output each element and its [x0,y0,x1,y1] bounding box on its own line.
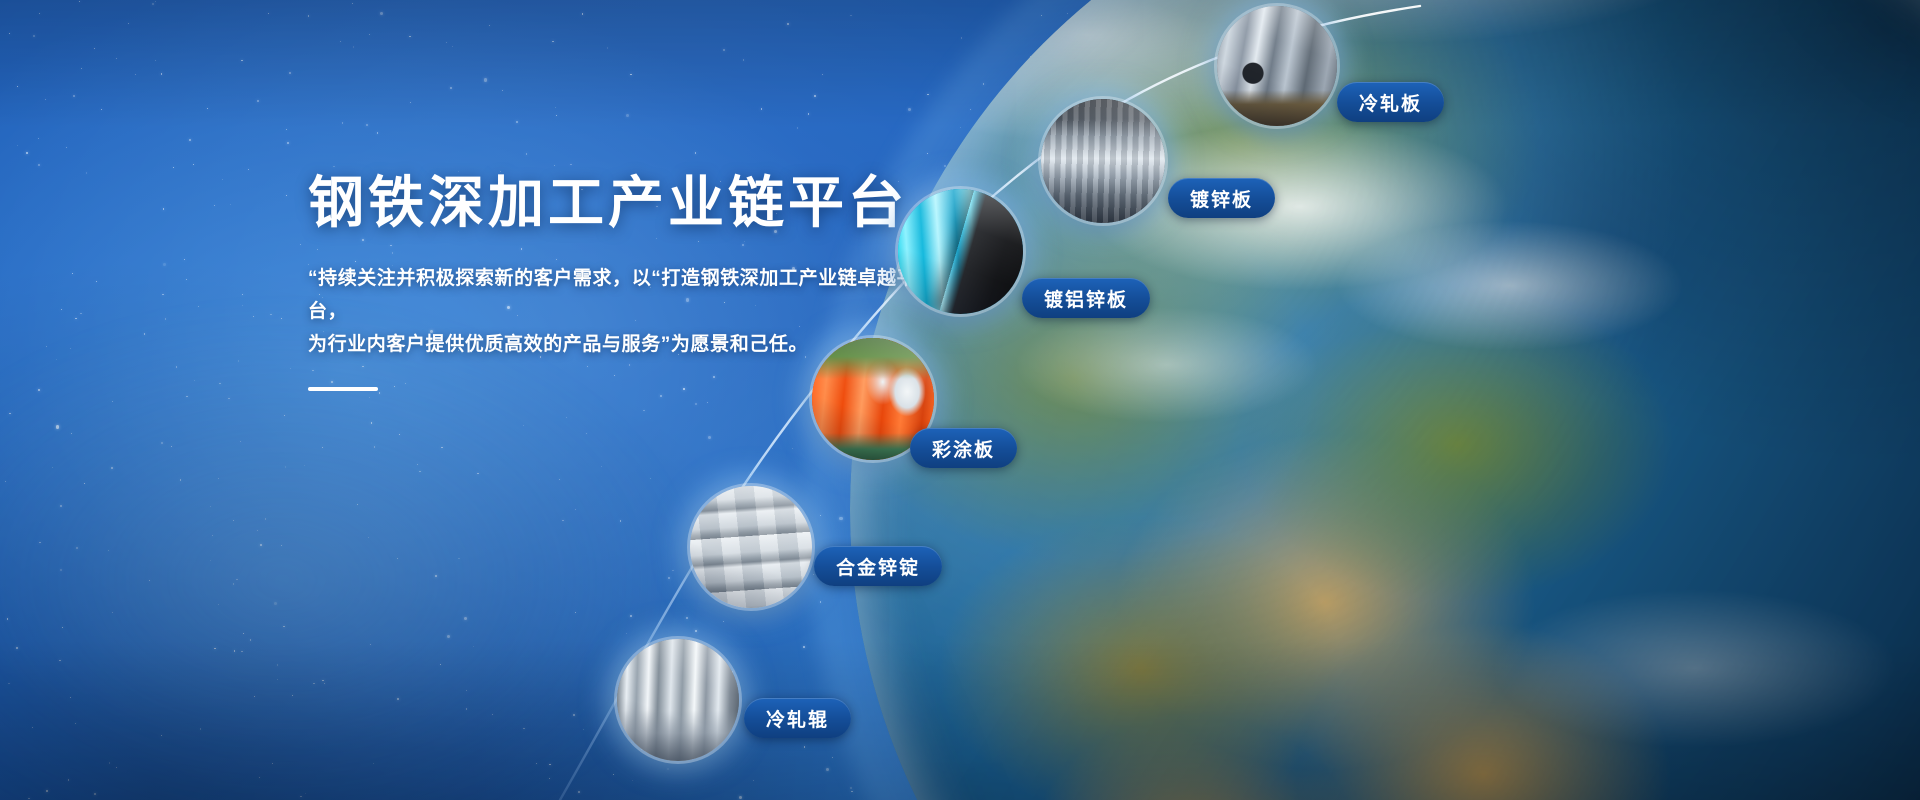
product-tag-galvanized-sheet[interactable]: 镀锌板 [1168,178,1275,218]
product-tag-galvalume-sheet[interactable]: 镀铝锌板 [1022,278,1150,318]
bubble-gloss [898,189,1023,314]
product-tag-color-coated-sheet[interactable]: 彩涂板 [910,428,1017,468]
coil-warehouse-photo[interactable] [1041,99,1165,223]
steel-coil-row-photo[interactable] [1217,6,1337,126]
bubble-gloss [1217,6,1337,126]
page-title: 钢铁深加工产业链平台 [308,172,948,234]
product-tag-zinc-alloy-ingot[interactable]: 合金锌锭 [814,546,942,586]
product-tag-cold-rolled-sheet[interactable]: 冷轧板 [1337,82,1444,122]
bubble-gloss [1041,99,1165,223]
hero-banner: 钢铁深加工产业链平台 “持续关注并积极探索新的客户需求，以“打造钢铁深加工产业链… [0,0,1920,800]
product-tag-cold-rolling-roll[interactable]: 冷轧辊 [744,698,851,738]
product-chain-path [0,0,1920,800]
polished-steel-roll-photo[interactable] [617,639,739,761]
bubble-gloss [617,639,739,761]
zinc-ingot-stack-photo[interactable] [690,486,812,608]
subtitle-line-1: “持续关注并积极探索新的客户需求，以“打造钢铁深加工产业链卓越平台， [308,262,948,329]
bubble-gloss [690,486,812,608]
headline-divider [308,387,378,391]
cyan-coated-coil-photo[interactable] [898,189,1023,314]
